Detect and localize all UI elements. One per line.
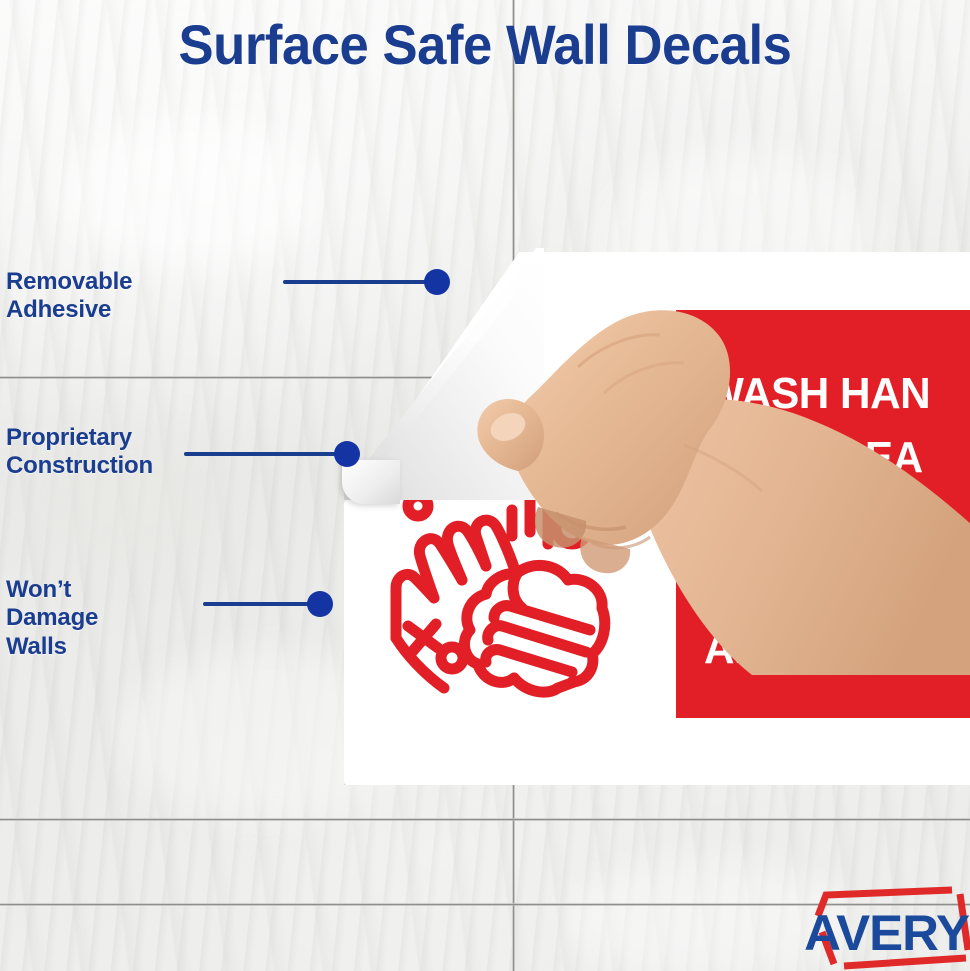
sign-text: WASH HAN OR AT LEA ONDS WI AND W xyxy=(704,362,970,681)
callout-dot xyxy=(424,269,450,295)
avery-logo: AVERY ® xyxy=(800,888,970,970)
product-marketing-image: Surface Safe Wall Decals WASH HAN OR AT … xyxy=(0,0,970,971)
callout-dot xyxy=(307,591,333,617)
callout-leader-line xyxy=(283,280,433,284)
sign-red-panel: WASH HAN OR AT LEA ONDS WI AND W xyxy=(676,310,970,718)
peel-curl-tip xyxy=(342,460,400,504)
callout-label: Removable Adhesive xyxy=(6,268,132,325)
callout-label: Won’t Damage Walls xyxy=(6,576,98,661)
callout-label: Proprietary Construction xyxy=(6,424,153,481)
decal-assembly: WASH HAN OR AT LEA ONDS WI AND W xyxy=(0,0,970,971)
callout-leader-line xyxy=(184,452,336,456)
callout-dot xyxy=(334,441,360,467)
callout-leader-line xyxy=(203,602,313,606)
avery-wordmark: AVERY xyxy=(804,904,969,960)
